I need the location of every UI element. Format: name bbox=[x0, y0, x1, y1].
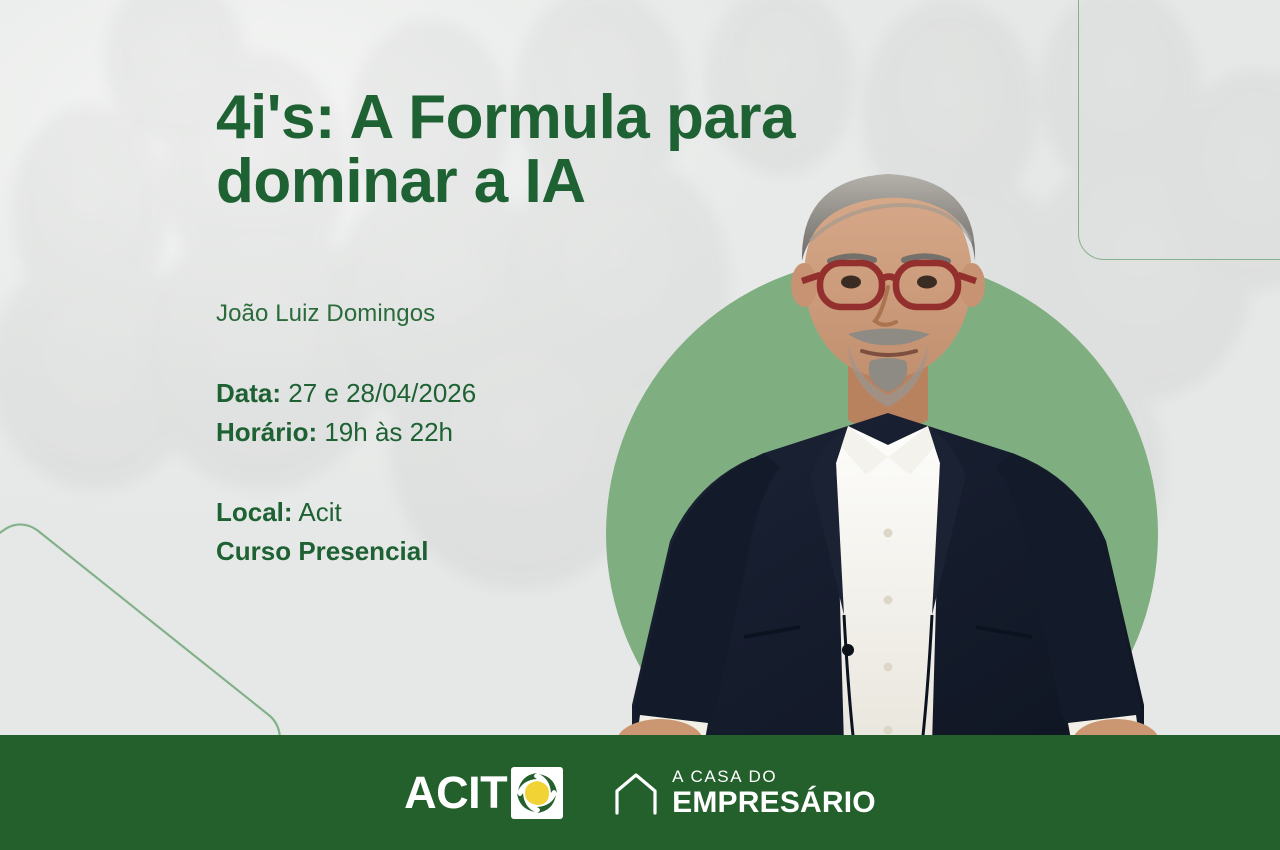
location-info-block: Local: Acit Curso Presencial bbox=[216, 493, 976, 572]
date-line: Data: 27 e 28/04/2026 bbox=[216, 374, 976, 414]
event-banner: 4i's: A Formula para dominar a IA João L… bbox=[0, 0, 1280, 850]
casa-do-empresario-logo: A CASA DO EMPRESÁRIO bbox=[613, 768, 876, 818]
schedule-info-block: Data: 27 e 28/04/2026 Horário: 19h às 22… bbox=[216, 374, 976, 453]
casa-text-group: A CASA DO EMPRESÁRIO bbox=[672, 768, 876, 818]
local-value: Acit bbox=[293, 497, 342, 527]
content-column: 4i's: A Formula para dominar a IA João L… bbox=[216, 86, 976, 572]
time-value: 19h às 22h bbox=[317, 417, 453, 447]
date-label: Data: bbox=[216, 378, 281, 408]
speaker-name: João Luiz Domingos bbox=[216, 300, 976, 328]
acit-logo: ACIT bbox=[404, 767, 563, 819]
casa-top-line: A CASA DO bbox=[672, 768, 876, 785]
casa-bottom-line: EMPRESÁRIO bbox=[672, 788, 876, 818]
modality-line: Curso Presencial bbox=[216, 532, 976, 572]
date-value: 27 e 28/04/2026 bbox=[281, 378, 476, 408]
acit-wordmark: ACIT bbox=[404, 770, 507, 815]
house-icon bbox=[613, 771, 659, 815]
aperture-spiral-icon bbox=[511, 767, 563, 819]
page-title: 4i's: A Formula para dominar a IA bbox=[216, 86, 976, 215]
local-label: Local: bbox=[216, 497, 293, 527]
local-line: Local: Acit bbox=[216, 493, 976, 533]
time-label: Horário: bbox=[216, 417, 317, 447]
time-line: Horário: 19h às 22h bbox=[216, 413, 976, 453]
footer-bar: ACIT A CASA DO EMPRESÁRIO bbox=[0, 735, 1280, 850]
